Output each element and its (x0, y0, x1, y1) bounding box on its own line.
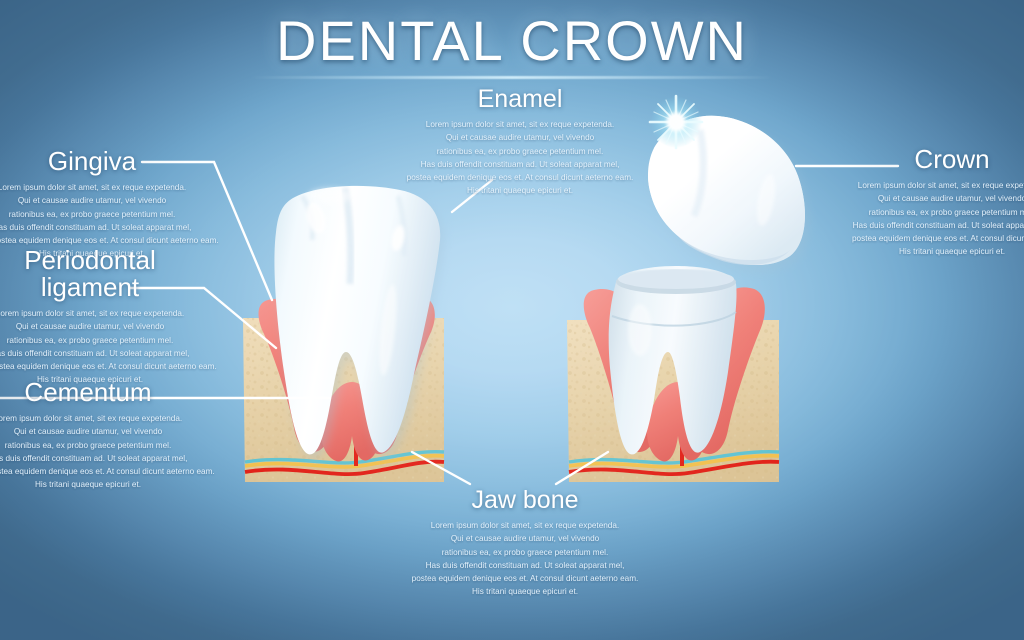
label-crown-heading: Crown (852, 146, 1024, 173)
label-cementum: Cementum Lorem ipsum dolor sit amet, sit… (0, 379, 188, 492)
label-gingiva: Gingiva Lorem ipsum dolor sit amet, sit … (0, 148, 192, 261)
label-enamel-heading: Enamel (400, 86, 640, 112)
label-periodontal-ligament: Periodontal ligament Lorem ipsum dolor s… (0, 247, 190, 387)
title-underline (250, 76, 774, 79)
page-title: DENTAL CROWN (0, 8, 1024, 73)
left-tooth-figure (243, 186, 446, 484)
label-crown: Crown Lorem ipsum dolor sit amet, sit ex… (852, 146, 1024, 259)
label-cementum-body: Lorem ipsum dolor sit amet, sit ex reque… (0, 412, 188, 492)
gingiva-periodontal-right (584, 287, 765, 461)
gingiva-periodontal-left (258, 295, 434, 461)
label-gingiva-heading: Gingiva (0, 148, 192, 175)
label-periodontal-body: Lorem ipsum dolor sit amet, sit ex reque… (0, 307, 190, 387)
natural-tooth-left (274, 186, 444, 461)
label-jaw-bone: Jaw bone Lorem ipsum dolor sit amet, sit… (398, 487, 652, 599)
jaw-bone-block-left (243, 318, 446, 484)
label-crown-body: Lorem ipsum dolor sit amet, sit ex reque… (852, 179, 1024, 259)
jaw-bone-block-right (567, 320, 781, 484)
label-jaw-bone-body: Lorem ipsum dolor sit amet, sit ex reque… (398, 519, 652, 599)
shine-sparkle-icon (650, 96, 702, 148)
label-cementum-heading: Cementum (0, 379, 188, 406)
infographic-canvas: DENTAL CROWN Gingiva Lorem ipsum dolor s… (0, 0, 1024, 640)
prepared-tooth-stump (609, 266, 737, 454)
label-enamel-body: Lorem ipsum dolor sit amet, sit ex reque… (400, 118, 640, 198)
dental-crown-cap (648, 116, 809, 272)
label-enamel: Enamel Lorem ipsum dolor sit amet, sit e… (400, 86, 640, 198)
label-jaw-bone-heading: Jaw bone (398, 487, 652, 513)
label-periodontal-heading: Periodontal ligament (0, 247, 190, 301)
leader-jawbone-right (556, 452, 608, 484)
leader-jawbone-left (412, 452, 470, 484)
